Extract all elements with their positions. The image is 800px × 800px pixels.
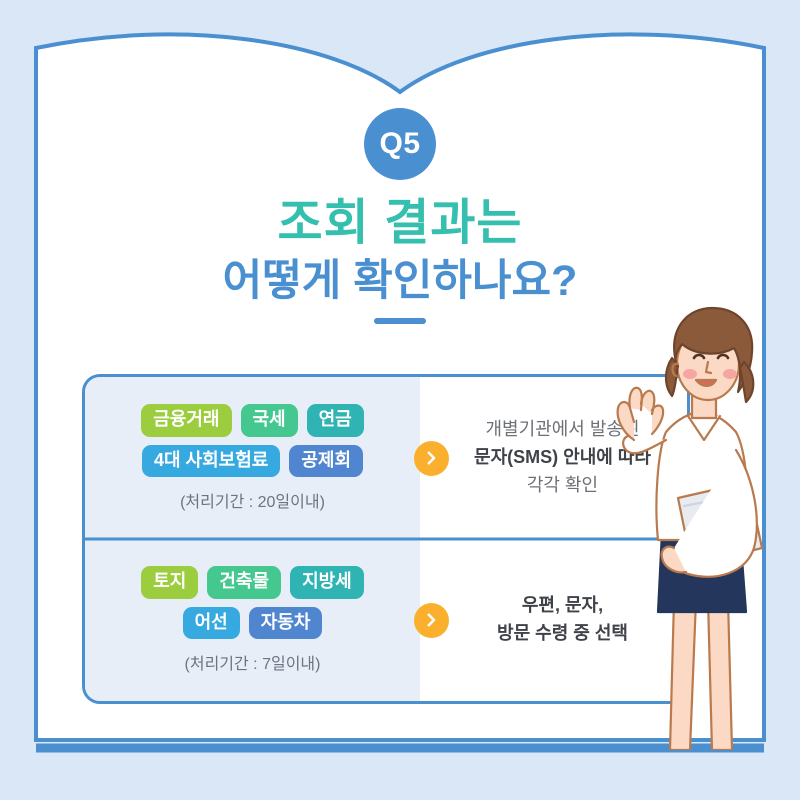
category-pill: 금융거래 [141,404,231,437]
category-pill: 연금 [307,404,364,437]
tag-column: 토지건축물지방세 어선자동차 (처리기간 : 7일이내) [85,566,420,674]
category-pill: 토지 [141,566,198,599]
category-pill: 어선 [183,607,240,640]
question-badge: Q5 [364,108,436,180]
answer-row: 토지건축물지방세 어선자동차 (처리기간 : 7일이내) 우편, 문자,방문 수… [85,539,687,701]
tag-column: 금융거래국세연금 4대 사회보험료공제회 (처리기간 : 20일이내) [85,404,420,512]
category-pill: 국세 [241,404,298,437]
tag-line: 금융거래국세연금 [141,404,364,437]
chevron-right-icon [414,441,449,476]
processing-time-caption: (처리기간 : 7일이내) [185,650,321,674]
category-pill: 지방세 [290,566,364,599]
chevron-right-icon [414,603,449,638]
poster-canvas: Q5 조회 결과는 어떻게 확인하나요? 금융거래국세연금 4대 사회보험료공제… [0,0,800,800]
category-pill: 4대 사회보험료 [142,445,280,478]
title-underline-rule [374,318,426,324]
arrow-cell [406,603,456,638]
answer-card: 금융거래국세연금 4대 사회보험료공제회 (처리기간 : 20일이내) 개별기관… [82,374,690,704]
page-title: 조회 결과는 어떻게 확인하나요? [68,197,732,308]
processing-time-caption: (처리기간 : 20일이내) [180,488,325,512]
tag-line: 어선자동차 [183,607,323,640]
category-pill: 공제회 [289,445,363,478]
answer-row: 금융거래국세연금 4대 사회보험료공제회 (처리기간 : 20일이내) 개별기관… [85,377,687,539]
category-pill: 건축물 [207,566,281,599]
tag-line: 4대 사회보험료공제회 [142,445,363,478]
arrow-cell [406,441,456,476]
category-pill: 자동차 [249,607,323,640]
tag-line: 토지건축물지방세 [141,566,364,599]
headline-line-1: 조회 결과는 [68,197,732,250]
waving-woman-illustration [612,300,800,750]
